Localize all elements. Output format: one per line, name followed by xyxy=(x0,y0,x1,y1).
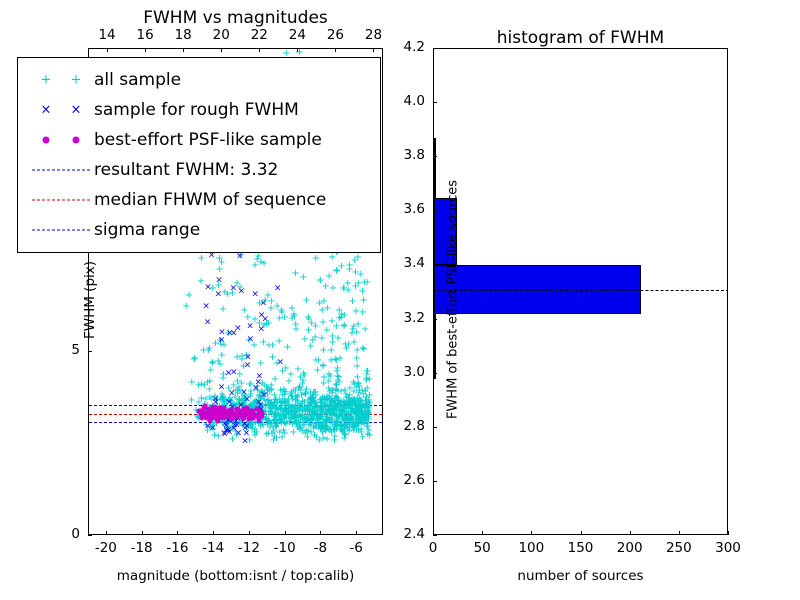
scatter-point-rough-sample: × xyxy=(218,384,226,393)
scatter-point-psf-sample xyxy=(214,410,219,415)
figure-canvas: FWHM vs magnitudes +++++++++++++++++++++… xyxy=(0,0,800,600)
right-xtick xyxy=(531,531,532,535)
left-ytick-label: 5 xyxy=(48,342,80,358)
scatter-point-rough-sample: × xyxy=(234,325,242,334)
rough-sample-marker-icon: × × xyxy=(28,100,94,120)
scatter-point-all-sample: + xyxy=(284,343,292,353)
scatter-point-all-sample: + xyxy=(319,361,327,371)
right-chart-title: histogram of FWHM xyxy=(433,28,728,48)
scatter-point-psf-sample xyxy=(252,411,257,416)
scatter-point-all-sample: + xyxy=(335,373,343,383)
scatter-point-all-sample: + xyxy=(351,282,359,292)
right-ytick-label: 4.0 xyxy=(389,93,425,109)
scatter-point-rough-sample: × xyxy=(246,323,254,332)
legend-item-median-fwhm: median FHWM of sequence xyxy=(28,185,370,215)
scatter-point-all-sample: + xyxy=(351,268,359,278)
scatter-point-all-sample: + xyxy=(191,354,199,364)
scatter-point-all-sample: + xyxy=(349,423,357,433)
left-ytick xyxy=(88,535,92,536)
left-xtick xyxy=(213,531,214,535)
right-ytick-label: 3.6 xyxy=(389,201,425,217)
scatter-point-all-sample: + xyxy=(363,370,371,380)
scatter-point-rough-sample: × xyxy=(260,300,268,309)
scatter-point-all-sample: + xyxy=(215,265,223,275)
scatter-point-all-sample: + xyxy=(345,411,353,421)
left-xtick xyxy=(177,531,178,535)
scatter-point-all-sample: + xyxy=(259,338,267,348)
scatter-point-all-sample: + xyxy=(340,434,348,444)
scatter-point-rough-sample: × xyxy=(230,425,238,434)
legend-label-sigma-range: sigma range xyxy=(94,220,200,240)
left-xtick xyxy=(356,531,357,535)
scatter-point-all-sample: + xyxy=(322,417,330,427)
scatter-point-rough-sample: × xyxy=(238,288,246,297)
fwhm-histogram-axes xyxy=(433,48,728,535)
legend-item-psf-sample: best-effort PSF-like sample xyxy=(28,125,370,155)
right-resultant-fwhm-line xyxy=(434,290,727,291)
scatter-point-rough-sample: × xyxy=(240,388,248,397)
scatter-point-all-sample: + xyxy=(299,273,307,283)
right-xtick-label: 250 xyxy=(657,540,701,556)
scatter-point-all-sample: + xyxy=(289,428,297,438)
left-xtick xyxy=(142,531,143,535)
scatter-point-all-sample: + xyxy=(365,426,373,436)
right-ytick xyxy=(433,427,437,428)
scatter-point-all-sample: + xyxy=(294,365,302,375)
scatter-point-all-sample: + xyxy=(328,338,336,348)
left-ytick-label: 0 xyxy=(48,526,80,542)
scatter-point-all-sample: + xyxy=(361,325,369,335)
scatter-point-all-sample: + xyxy=(346,384,354,394)
scatter-point-rough-sample: × xyxy=(274,285,282,294)
scatter-point-rough-sample: × xyxy=(251,290,259,299)
right-plot-area xyxy=(434,49,727,534)
right-ytick xyxy=(433,319,437,320)
right-xtick-label: 300 xyxy=(706,540,750,556)
scatter-point-all-sample: + xyxy=(219,305,227,315)
scatter-point-all-sample: + xyxy=(278,367,286,377)
scatter-point-all-sample: + xyxy=(353,346,361,356)
scatter-point-psf-sample xyxy=(235,411,240,416)
scatter-point-rough-sample: × xyxy=(236,253,244,262)
scatter-point-all-sample: + xyxy=(310,431,318,441)
scatter-point-all-sample: + xyxy=(297,386,305,396)
legend-label-all-sample: all sample xyxy=(94,70,181,90)
scatter-point-all-sample: + xyxy=(339,403,347,413)
right-ytick-label: 3.0 xyxy=(389,364,425,380)
left-xtick xyxy=(285,531,286,535)
right-ytick xyxy=(433,210,437,211)
scatter-point-all-sample: + xyxy=(309,336,317,346)
histogram-bar xyxy=(434,314,436,379)
right-xtick xyxy=(630,531,631,535)
psf-sample-marker-icon xyxy=(28,130,94,150)
right-xtick-label: 50 xyxy=(460,540,504,556)
scatter-point-rough-sample: × xyxy=(204,318,212,327)
scatter-point-all-sample: + xyxy=(276,386,284,396)
right-ytick-label: 3.8 xyxy=(389,147,425,163)
right-ytick xyxy=(433,373,437,374)
scatter-point-rough-sample: × xyxy=(260,392,268,401)
scatter-point-all-sample: + xyxy=(309,395,317,405)
left-top-tick xyxy=(297,48,298,52)
right-ytick xyxy=(433,102,437,103)
scatter-point-all-sample: + xyxy=(332,386,340,396)
legend-label-median-fwhm: median FHWM of sequence xyxy=(94,190,326,210)
scatter-point-rough-sample: × xyxy=(257,325,265,334)
scatter-point-all-sample: + xyxy=(204,346,212,356)
scatter-point-rough-sample: × xyxy=(241,421,249,430)
scatter-point-all-sample: + xyxy=(269,436,277,446)
scatter-point-psf-sample xyxy=(225,409,230,414)
scatter-point-all-sample: + xyxy=(353,362,361,372)
all-sample-marker-icon: + + xyxy=(28,70,94,90)
scatter-point-all-sample: + xyxy=(340,322,348,332)
right-xtick-label: 0 xyxy=(411,540,455,556)
scatter-point-rough-sample: × xyxy=(202,302,210,311)
scatter-point-all-sample: + xyxy=(215,254,223,264)
resultant-fwhm-line-icon xyxy=(28,160,94,180)
scatter-point-all-sample: + xyxy=(349,325,357,335)
legend-item-sigma-range: sigma range xyxy=(28,215,370,245)
right-xtick xyxy=(482,531,483,535)
scatter-point-all-sample: + xyxy=(206,377,214,387)
legend-label-psf-sample: best-effort PSF-like sample xyxy=(94,130,322,150)
legend-item-resultant-fwhm: resultant FWHM: 3.32 xyxy=(28,155,370,185)
scatter-point-all-sample: + xyxy=(323,326,331,336)
scatter-point-all-sample: + xyxy=(208,358,216,368)
right-ytick xyxy=(433,264,437,265)
scatter-point-all-sample: + xyxy=(240,306,248,316)
left-top-tick xyxy=(145,48,146,52)
scatter-point-all-sample: + xyxy=(354,413,362,423)
scatter-point-rough-sample: × xyxy=(230,368,238,377)
scatter-point-all-sample: + xyxy=(187,396,195,406)
right-xtick-label: 150 xyxy=(559,540,603,556)
right-yaxis-label: FWHM of best-effort PSF-like sources xyxy=(446,120,461,480)
scatter-point-rough-sample: × xyxy=(218,336,226,345)
scatter-point-all-sample: + xyxy=(315,299,323,309)
right-ytick xyxy=(433,481,437,482)
scatter-point-all-sample: + xyxy=(319,346,327,356)
scatter-point-rough-sample: × xyxy=(262,315,270,324)
right-ytick xyxy=(433,156,437,157)
left-xtick xyxy=(106,531,107,535)
left-ytick xyxy=(88,351,92,352)
scatter-point-all-sample: + xyxy=(182,302,190,312)
scatter-point-all-sample: + xyxy=(335,314,343,324)
scatter-point-all-sample: + xyxy=(364,408,372,418)
right-ytick-label: 3.2 xyxy=(389,310,425,326)
left-chart-title: FWHM vs magnitudes xyxy=(88,8,383,28)
scatter-point-all-sample: + xyxy=(185,291,193,301)
scatter-point-all-sample: + xyxy=(288,314,296,324)
right-ytick-label: 2.4 xyxy=(389,526,425,542)
scatter-point-psf-sample xyxy=(260,413,265,418)
scatter-point-all-sample: + xyxy=(312,254,320,264)
right-ytick-label: 2.8 xyxy=(389,418,425,434)
scatter-point-rough-sample: × xyxy=(277,359,285,368)
scatter-point-rough-sample: × xyxy=(241,438,249,447)
legend-label-resultant-fwhm: resultant FWHM: 3.32 xyxy=(94,160,278,180)
scatter-point-all-sample: + xyxy=(329,425,337,435)
right-ytick-label: 2.6 xyxy=(389,472,425,488)
left-top-tick xyxy=(259,48,260,52)
right-xtick-label: 200 xyxy=(608,540,652,556)
scatter-point-psf-sample xyxy=(223,413,228,418)
scatter-point-all-sample: + xyxy=(328,317,336,327)
scatter-point-all-sample: + xyxy=(316,276,324,286)
right-ytick xyxy=(433,48,437,49)
legend-label-rough-fwhm: sample for rough FWHM xyxy=(94,100,299,120)
left-top-tick xyxy=(373,48,374,52)
scatter-point-all-sample: + xyxy=(273,302,281,312)
scatter-point-rough-sample: × xyxy=(244,354,252,363)
histogram-bar xyxy=(434,138,436,198)
right-xaxis-label: number of sources xyxy=(433,568,728,584)
left-xaxis-label: magnitude (bottom:isnt / top:calib) xyxy=(88,568,383,584)
scatter-point-rough-sample: × xyxy=(255,378,263,387)
scatter-point-all-sample: + xyxy=(342,344,350,354)
median-fwhm-line-icon xyxy=(28,190,94,210)
scatter-point-all-sample: + xyxy=(218,351,226,361)
scatter-point-all-sample: + xyxy=(257,359,265,369)
right-ytick-label: 3.4 xyxy=(389,255,425,271)
scatter-point-all-sample: + xyxy=(328,397,336,407)
sigma-range-line-icon xyxy=(28,220,94,240)
scatter-point-all-sample: + xyxy=(359,308,367,318)
scatter-point-rough-sample: × xyxy=(230,284,238,293)
left-top-tick xyxy=(335,48,336,52)
scatter-point-all-sample: + xyxy=(287,370,295,380)
scatter-point-all-sample: + xyxy=(311,322,319,332)
scatter-point-all-sample: + xyxy=(233,353,241,363)
scatter-point-all-sample: + xyxy=(197,254,205,264)
scatter-point-all-sample: + xyxy=(359,296,367,306)
scatter-point-rough-sample: × xyxy=(204,284,212,293)
scatter-point-rough-sample: × xyxy=(226,330,234,339)
left-top-tick xyxy=(107,48,108,52)
scatter-point-all-sample: + xyxy=(312,356,320,366)
scatter-point-all-sample: + xyxy=(275,314,283,324)
right-xtick xyxy=(728,531,729,535)
left-top-tick xyxy=(221,48,222,52)
left-top-tick xyxy=(183,48,184,52)
scatter-point-all-sample: + xyxy=(332,356,340,366)
right-ytick-label: 4.2 xyxy=(389,39,425,55)
scatter-point-all-sample: + xyxy=(302,296,310,306)
scatter-point-all-sample: + xyxy=(278,410,286,420)
scatter-point-all-sample: + xyxy=(291,269,299,279)
scatter-point-all-sample: + xyxy=(291,409,299,419)
right-xtick xyxy=(679,531,680,535)
scatter-point-all-sample: + xyxy=(251,261,259,271)
scatter-point-psf-sample xyxy=(215,418,220,423)
left-xtick-label: -6 xyxy=(334,540,378,556)
scatter-point-psf-sample xyxy=(203,414,208,419)
scatter-point-rough-sample: × xyxy=(215,277,223,286)
left-xtick xyxy=(320,531,321,535)
legend-item-rough-fwhm: × × sample for rough FWHM xyxy=(28,95,370,125)
right-xtick xyxy=(581,531,582,535)
scatter-point-all-sample: + xyxy=(329,284,337,294)
legend-item-all-sample: + + all sample xyxy=(28,65,370,95)
scatter-point-all-sample: + xyxy=(332,266,340,276)
scatter-point-rough-sample: × xyxy=(215,290,223,299)
scatter-point-all-sample: + xyxy=(281,429,289,439)
scatter-point-all-sample: + xyxy=(188,378,196,388)
scatter-point-psf-sample xyxy=(210,415,215,420)
right-ytick xyxy=(433,535,437,536)
legend: + + all sample × × sample for rough FWHM… xyxy=(17,57,381,253)
scatter-point-rough-sample: × xyxy=(247,335,255,344)
right-xtick-label: 100 xyxy=(509,540,553,556)
scatter-point-all-sample: + xyxy=(330,436,338,446)
left-xtick xyxy=(249,531,250,535)
